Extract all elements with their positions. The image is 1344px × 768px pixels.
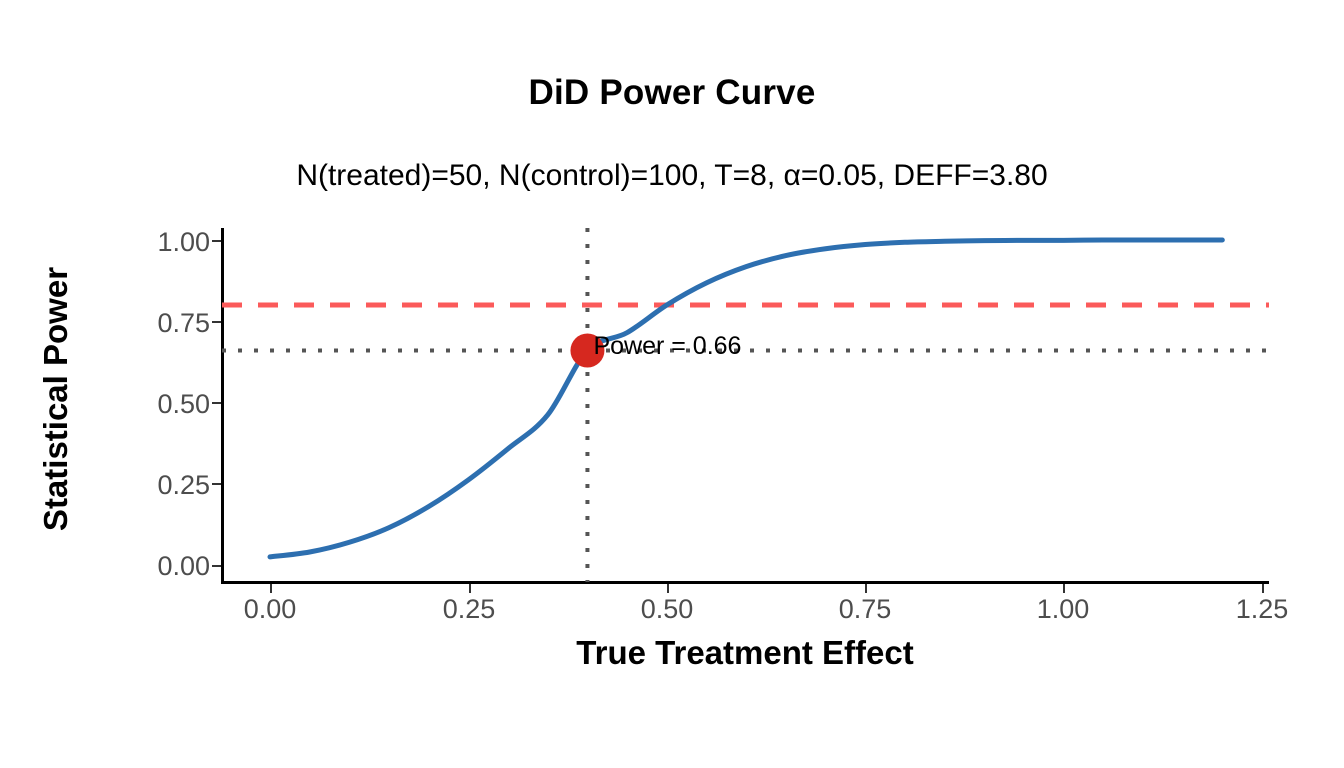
plot-svg — [222, 228, 1269, 582]
x-tick-mark-3 — [865, 583, 867, 593]
plot-area: Power = 0.66 — [222, 228, 1269, 582]
chart-subtitle: N(treated)=50, N(control)=100, T=8, α=0.… — [0, 158, 1344, 194]
y-tick-label-3: 0.75 — [90, 310, 210, 337]
x-tick-mark-0 — [270, 583, 272, 593]
guide-lines-group — [222, 228, 1269, 582]
x-tick-label-1: 0.25 — [389, 596, 549, 623]
y-axis-title: Statistical Power — [37, 239, 75, 559]
x-axis-title: True Treatment Effect — [222, 634, 1268, 672]
x-tick-label-5: 1.25 — [1182, 596, 1342, 623]
x-tick-label-4: 1.00 — [983, 596, 1143, 623]
x-tick-label-2: 0.50 — [587, 596, 747, 623]
x-tick-mark-5 — [1262, 583, 1264, 593]
x-tick-mark-1 — [469, 583, 471, 593]
x-tick-mark-4 — [1063, 583, 1065, 593]
x-tick-label-3: 0.75 — [785, 596, 945, 623]
power-curve-line — [270, 240, 1222, 557]
x-tick-mark-2 — [667, 583, 669, 593]
y-tick-label-4: 1.00 — [90, 229, 210, 256]
y-tick-label-2: 0.50 — [90, 391, 210, 418]
chart-title: DiD Power Curve — [0, 72, 1344, 114]
y-tick-label-0: 0.00 — [90, 553, 210, 580]
y-tick-label-1: 0.25 — [90, 472, 210, 499]
power-annotation-label: Power = 0.66 — [593, 334, 741, 359]
x-tick-label-0: 0.00 — [190, 596, 350, 623]
power-curve-chart: DiD Power Curve N(treated)=50, N(control… — [0, 0, 1344, 768]
